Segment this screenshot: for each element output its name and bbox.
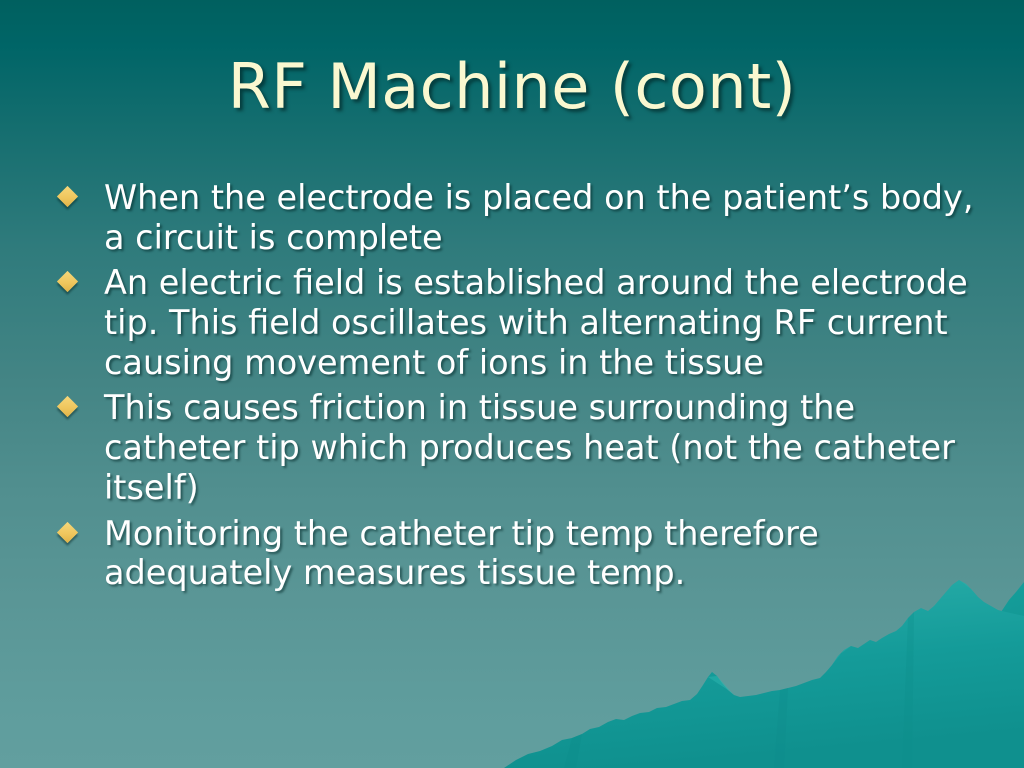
ridge-facet-highlight-3 bbox=[832, 646, 851, 665]
diamond-bullet-icon bbox=[60, 514, 104, 540]
bullet-item: This causes friction in tissue surroundi… bbox=[60, 388, 990, 507]
ridge-facet-highlight bbox=[708, 676, 734, 695]
ridge-front-layer bbox=[504, 580, 1024, 768]
bullet-item: When the electrode is placed on the pati… bbox=[60, 178, 990, 257]
ridge-facet-shadow bbox=[564, 734, 582, 768]
ridge-back-layer bbox=[849, 582, 1024, 768]
bullet-text: An electric field is established around … bbox=[104, 263, 990, 382]
presentation-slide: RF Machine (cont) When the electrode is … bbox=[0, 0, 1024, 768]
bullet-text: Monitoring the catheter tip temp therefo… bbox=[104, 514, 990, 593]
bullet-item: An electric field is established around … bbox=[60, 263, 990, 382]
slide-title-block: RF Machine (cont) bbox=[0, 54, 1024, 119]
diamond-bullet-icon bbox=[60, 388, 104, 414]
diamond-bullet-icon bbox=[60, 263, 104, 289]
diamond-bullet-icon bbox=[60, 178, 104, 204]
bullet-item: Monitoring the catheter tip temp therefo… bbox=[60, 514, 990, 593]
slide-body-bullet-list: When the electrode is placed on the pati… bbox=[60, 178, 990, 599]
bullet-text: This causes friction in tissue surroundi… bbox=[104, 388, 990, 507]
slide-title: RF Machine (cont) bbox=[228, 54, 797, 119]
bullet-text: When the electrode is placed on the pati… bbox=[104, 178, 990, 257]
ridge-facet-shadow-2 bbox=[774, 688, 788, 768]
ridge-facet-shadow-3 bbox=[902, 612, 914, 768]
